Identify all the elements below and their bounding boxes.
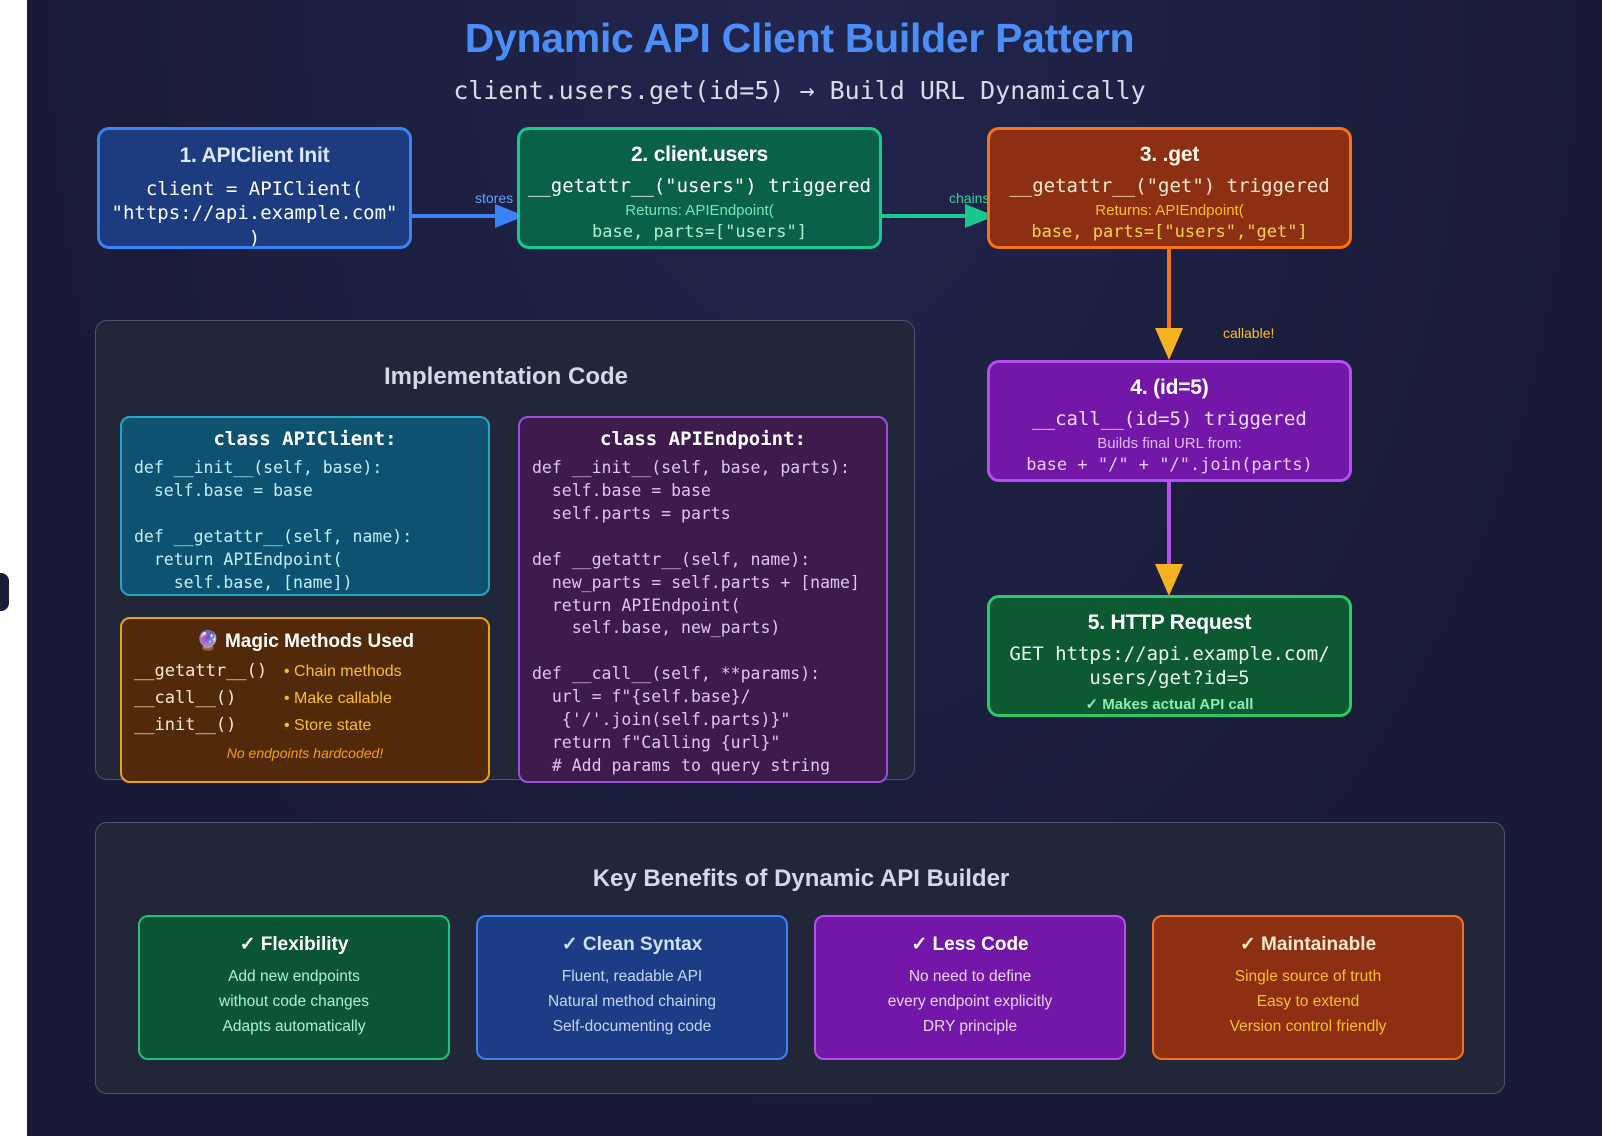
step-title: 3. .get	[990, 143, 1349, 167]
magic-method-name: __getattr__()	[134, 658, 284, 685]
step-title: 1. APIClient Init	[100, 144, 409, 168]
magic-method-name: __call__()	[134, 685, 284, 712]
step-title: 2. client.users	[520, 143, 879, 167]
benefit-line: Fluent, readable API	[478, 964, 786, 989]
arrow-label-callable: callable!	[1223, 325, 1274, 341]
benefit-card-flexibility: ✓ Flexibility Add new endpoints without …	[138, 915, 450, 1060]
viewport-handle[interactable]	[0, 573, 9, 611]
step-code: __getattr__("users") triggered	[520, 175, 879, 197]
benefit-line: Add new endpoints	[140, 964, 448, 989]
magic-methods-title: 🔮 Magic Methods Used	[134, 629, 476, 653]
step-code: __getattr__("get") triggered	[990, 175, 1349, 197]
implementation-heading: Implementation Code	[96, 363, 916, 391]
code-block-body: def __init__(self, base, parts): self.ba…	[532, 457, 874, 778]
benefit-card-less-code: ✓ Less Code No need to define every endp…	[814, 915, 1126, 1060]
key-benefits-panel: Key Benefits of Dynamic API Builder ✓ Fl…	[95, 822, 1505, 1094]
flow-step-http-request: 5. HTTP Request GET https://api.example.…	[987, 595, 1352, 717]
step-note: Builds final URL from:	[990, 435, 1349, 452]
benefit-card-maintainable: ✓ Maintainable Single source of truth Ea…	[1152, 915, 1464, 1060]
magic-methods-label: Magic Methods Used	[225, 631, 414, 652]
magic-methods-box: 🔮 Magic Methods Used __getattr__() • Cha…	[120, 617, 490, 783]
step-code: client = APIClient( "https://api.example…	[100, 177, 409, 249]
diagram-page: Dynamic API Client Builder Pattern clien…	[0, 0, 1602, 1136]
key-benefits-heading: Key Benefits of Dynamic API Builder	[96, 865, 1506, 893]
benefit-line: No need to define	[816, 964, 1124, 989]
benefit-line: Adapts automatically	[140, 1014, 448, 1039]
benefit-line: Easy to extend	[1154, 989, 1462, 1014]
code-block-apiclient: class APIClient: def __init__(self, base…	[120, 416, 490, 596]
step-code: __call__(id=5) triggered	[990, 408, 1349, 430]
code-block-apiendpoint: class APIEndpoint: def __init__(self, ba…	[518, 416, 888, 783]
benefit-card-clean-syntax: ✓ Clean Syntax Fluent, readable API Natu…	[476, 915, 788, 1060]
list-item: __call__() • Make callable	[134, 685, 476, 712]
arrow-label-stores: stores	[475, 190, 513, 206]
arrow-label-chains: chains	[949, 190, 989, 206]
benefit-line: Natural method chaining	[478, 989, 786, 1014]
benefit-line: Single source of truth	[1154, 964, 1462, 989]
flow-step-client-users: 2. client.users __getattr__("users") tri…	[517, 127, 882, 249]
page-title: Dynamic API Client Builder Pattern	[27, 15, 1572, 62]
benefit-line: Self-documenting code	[478, 1014, 786, 1039]
list-item: __init__() • Store state	[134, 712, 476, 739]
step-note: Returns: APIEndpoint(	[520, 202, 879, 219]
code-block-body: def __init__(self, base): self.base = ba…	[134, 457, 476, 595]
benefit-line: every endpoint explicitly	[816, 989, 1124, 1014]
step-note-code: base, parts=["users"]	[520, 222, 879, 242]
benefit-title: ✓ Maintainable	[1154, 933, 1462, 956]
diagram-canvas: Dynamic API Client Builder Pattern clien…	[27, 0, 1602, 1136]
magic-methods-footer: No endpoints hardcoded!	[134, 745, 476, 761]
step-note-code: base + "/" + "/".join(parts)	[990, 455, 1349, 475]
step-title: 5. HTTP Request	[990, 611, 1349, 635]
flow-step-call-id: 4. (id=5) __call__(id=5) triggered Build…	[987, 360, 1352, 482]
magic-method-desc: • Make callable	[284, 687, 392, 712]
benefit-line: DRY principle	[816, 1014, 1124, 1039]
benefit-line: without code changes	[140, 989, 448, 1014]
implementation-code-panel: Implementation Code class APIClient: def…	[95, 320, 915, 780]
step-note-code: base, parts=["users","get"]	[990, 222, 1349, 242]
key-benefits-cards: ✓ Flexibility Add new endpoints without …	[138, 915, 1464, 1060]
magic-method-desc: • Store state	[284, 714, 371, 739]
step-note: Returns: APIEndpoint(	[990, 202, 1349, 219]
list-item: __getattr__() • Chain methods	[134, 658, 476, 685]
crystal-ball-icon: 🔮	[196, 631, 220, 652]
step-check-note: ✓ Makes actual API call	[990, 695, 1349, 713]
left-gutter	[0, 0, 27, 1136]
step-title: 4. (id=5)	[990, 376, 1349, 400]
magic-method-name: __init__()	[134, 712, 284, 739]
benefit-line: Version control friendly	[1154, 1014, 1462, 1039]
flow-step-get: 3. .get __getattr__("get") triggered Ret…	[987, 127, 1352, 249]
benefit-title: ✓ Flexibility	[140, 933, 448, 956]
magic-methods-list: __getattr__() • Chain methods __call__()…	[134, 658, 476, 739]
magic-method-desc: • Chain methods	[284, 660, 402, 685]
code-block-title: class APIEndpoint:	[532, 428, 874, 450]
step-code: GET https://api.example.com/ users/get?i…	[990, 643, 1349, 691]
page-subtitle: client.users.get(id=5) → Build URL Dynam…	[27, 76, 1572, 105]
flow-step-apiclient-init: 1. APIClient Init client = APIClient( "h…	[97, 127, 412, 249]
benefit-title: ✓ Clean Syntax	[478, 933, 786, 956]
code-block-title: class APIClient:	[134, 428, 476, 450]
benefit-title: ✓ Less Code	[816, 933, 1124, 956]
